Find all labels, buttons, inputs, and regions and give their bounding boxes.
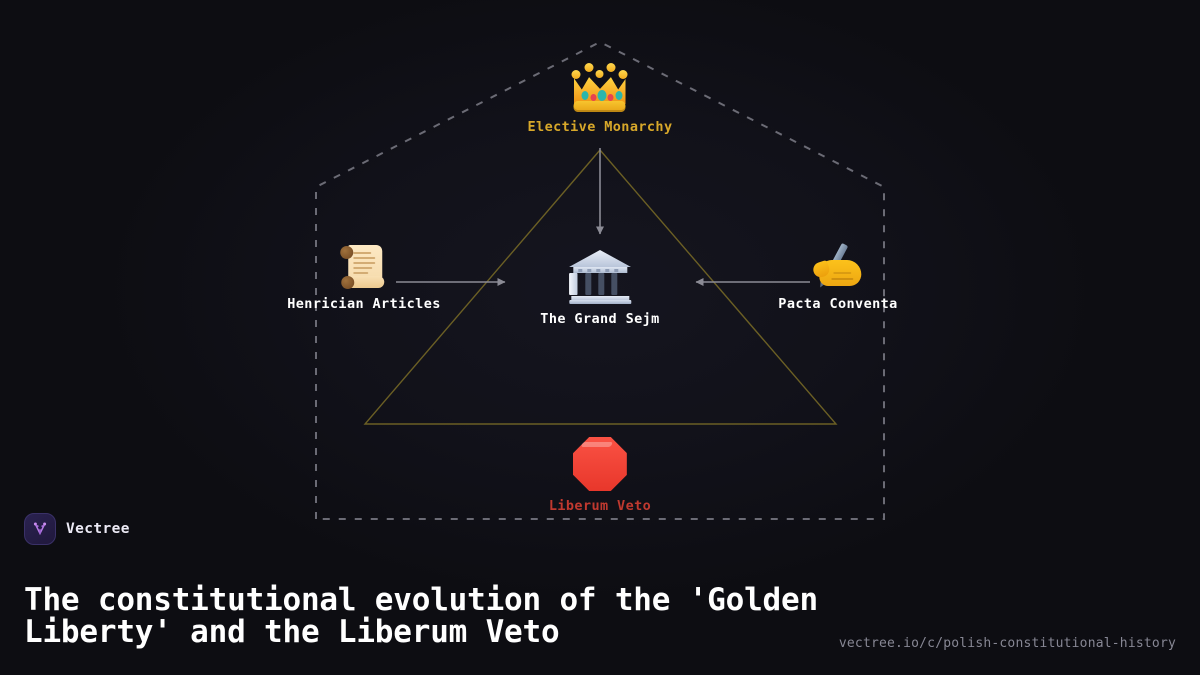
brand[interactable]: Vectree xyxy=(24,513,130,545)
node-the-grand-sejm[interactable]: The Grand Sejm xyxy=(540,250,659,327)
node-label-liberum-veto: Liberum Veto xyxy=(549,498,651,514)
brand-name: Vectree xyxy=(66,521,130,537)
node-label-henrician-articles: Henrician Articles xyxy=(287,296,441,312)
bank-icon xyxy=(569,250,631,304)
writing-hand-icon xyxy=(809,243,867,289)
stop-octagon-icon xyxy=(573,437,627,491)
node-elective-monarchy[interactable]: Elective Monarchy xyxy=(528,62,673,135)
node-pacta-conventa[interactable]: Pacta Conventa xyxy=(778,243,897,312)
scroll-icon xyxy=(338,243,390,289)
node-label-elective-monarchy: Elective Monarchy xyxy=(528,119,673,135)
source-url: vectree.io/c/polish-constitutional-histo… xyxy=(839,636,1176,651)
node-liberum-veto[interactable]: Liberum Veto xyxy=(549,437,651,514)
vectree-logo-icon xyxy=(24,513,56,545)
node-label-the-grand-sejm: The Grand Sejm xyxy=(540,311,659,327)
node-label-pacta-conventa: Pacta Conventa xyxy=(778,296,897,312)
diagram-canvas: Elective Monarchy Henrician Articles The… xyxy=(0,0,1200,675)
page-title: The constitutional evolution of the 'Gol… xyxy=(24,584,824,648)
node-henrician-articles[interactable]: Henrician Articles xyxy=(287,243,441,312)
crown-icon xyxy=(571,62,629,112)
